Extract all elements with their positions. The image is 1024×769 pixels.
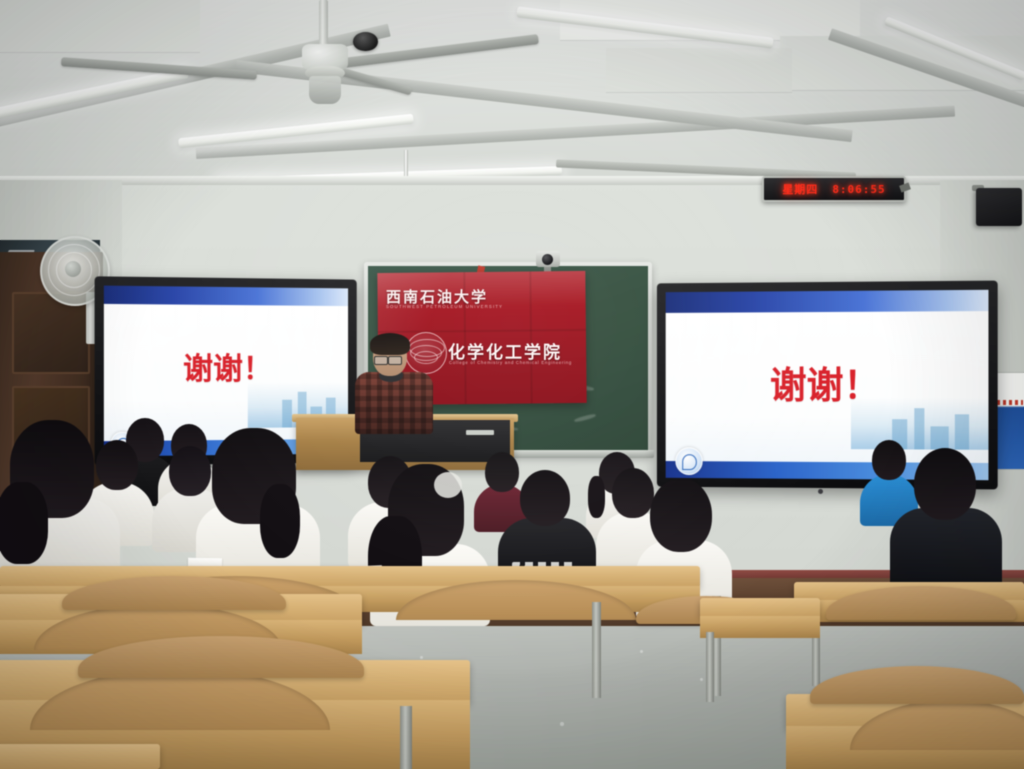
- fan-downrod: [319, 0, 328, 48]
- presenter-hair: [370, 333, 410, 355]
- audience-student: [890, 448, 1002, 590]
- classroom-photo: 星期四 8:06:55 西南石油大学 SOUTHWEST PETROLEUM U…: [0, 0, 1024, 769]
- ceiling-fan: [247, 0, 407, 110]
- spu-slide-logo-icon: [675, 448, 702, 476]
- notice-accent: [997, 400, 1023, 405]
- ceiling-dome-camera: [353, 32, 378, 51]
- slide-thanks-text: 谢谢！: [666, 355, 989, 410]
- lectern-control-button[interactable]: [466, 430, 494, 435]
- slide-thanks-text: 谢谢！: [104, 344, 348, 389]
- camera-lens-icon: [542, 254, 553, 265]
- presenter-glasses: [388, 356, 402, 365]
- ceiling-panel: [0, 0, 200, 52]
- presenter-glasses: [374, 356, 388, 365]
- led-clock-display: 星期四 8:06:55: [762, 176, 906, 202]
- desk-shelf: [0, 744, 160, 769]
- presenter: [355, 336, 433, 432]
- wall-speaker: [976, 188, 1022, 226]
- ceiling-panel: [606, 48, 792, 92]
- fan-hub: [65, 261, 81, 277]
- slide-header-band: [666, 290, 989, 313]
- led-time: 8:06:55: [832, 183, 885, 196]
- fan-housing: [309, 76, 341, 104]
- audience-student: [0, 420, 120, 580]
- banner-college-name-en: College of Chemistry and Chemical Engine…: [449, 360, 599, 365]
- slide-header-band: [104, 286, 348, 307]
- hair-clip: [434, 472, 462, 498]
- led-weekday: 星期四: [782, 181, 818, 197]
- banner-university-name-en: SOUTHWEST PETROLEUM UNIVERSITY: [386, 304, 516, 309]
